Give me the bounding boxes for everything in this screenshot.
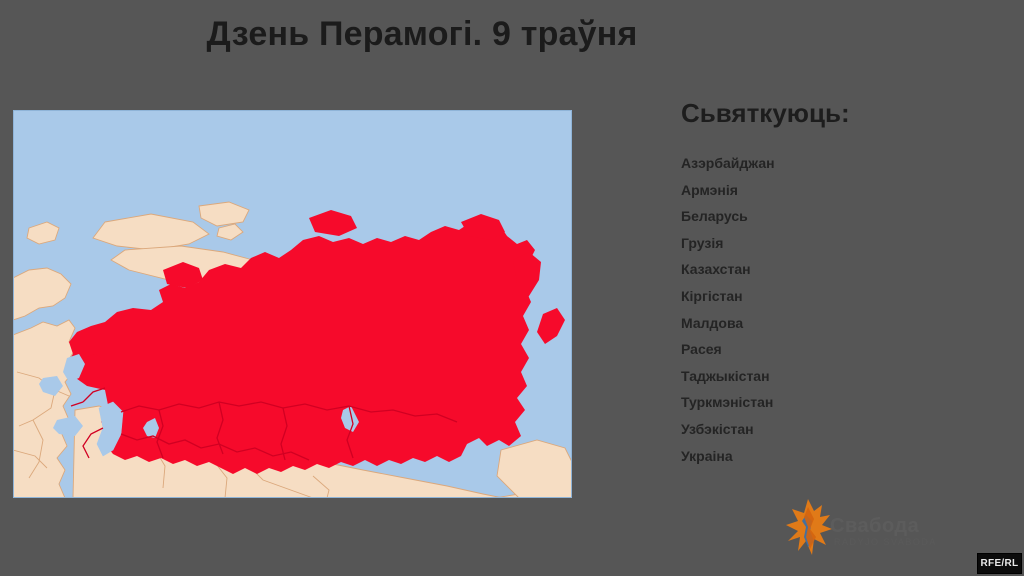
list-item: Беларусь <box>681 203 1011 230</box>
slide-canvas: Дзень Перамогі. 9 траўня <box>0 0 1024 576</box>
list-item: Украіна <box>681 443 1011 470</box>
celebrants-heading: Сьвяткуюць: <box>681 96 1011 130</box>
page-title: Дзень Перамогі. 9 траўня <box>0 12 1024 56</box>
list-item: Таджыкістан <box>681 363 1011 390</box>
list-item: Казахстан <box>681 256 1011 283</box>
list-item: Малдова <box>681 310 1011 337</box>
rferl-badge[interactable]: RFE/RL <box>977 553 1022 574</box>
list-item: Грузія <box>681 230 1011 257</box>
world-map-svg <box>13 110 572 498</box>
list-item: Армэнія <box>681 177 1011 204</box>
map-panel[interactable] <box>13 110 572 498</box>
list-item: Туркмэністан <box>681 389 1011 416</box>
list-item: Кіргістан <box>681 283 1011 310</box>
celebrants-panel: Сьвяткуюць: Азэрбайджан Армэнія Беларусь… <box>681 96 1011 469</box>
brand-wordmark: Свабода <box>830 515 919 538</box>
list-item: Расея <box>681 336 1011 363</box>
list-item: Азэрбайджан <box>681 150 1011 177</box>
country-list: Азэрбайджан Армэнія Беларусь Грузія Каза… <box>681 150 1011 469</box>
brand-subword: RADYJO SVABODA <box>834 537 937 547</box>
list-item: Узбэкістан <box>681 416 1011 443</box>
flame-logo-icon <box>784 497 836 559</box>
brand-watermark: Свабода RADYJO SVABODA <box>784 497 994 559</box>
